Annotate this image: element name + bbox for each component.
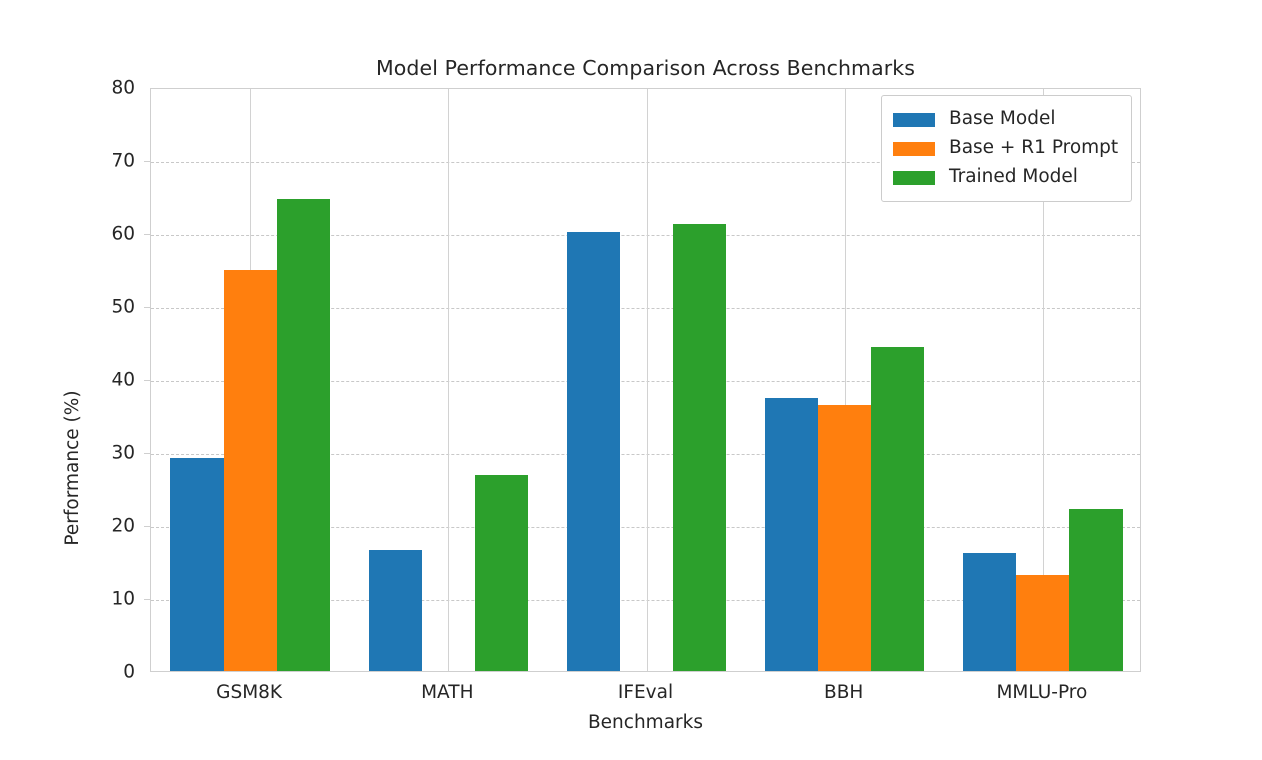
bar	[567, 232, 620, 671]
legend-swatch-icon	[893, 142, 935, 156]
figure-canvas: Model Performance Comparison Across Benc…	[0, 0, 1262, 757]
bar	[224, 270, 277, 671]
gridline-vertical	[647, 89, 648, 671]
legend-label: Base + R1 Prompt	[949, 139, 1118, 158]
legend-swatch-icon	[893, 113, 935, 127]
legend-item[interactable]: Base + R1 Prompt	[893, 134, 1118, 163]
y-tick-label: 60	[55, 224, 135, 245]
y-tick-label: 70	[55, 151, 135, 172]
x-tick-label: GSM8K	[216, 682, 282, 703]
y-tick-label: 0	[55, 662, 135, 683]
x-axis-label: Benchmarks	[150, 712, 1141, 733]
y-tick-label: 20	[55, 516, 135, 537]
legend: Base ModelBase + R1 PromptTrained Model	[881, 95, 1132, 202]
x-tick-label: IFEval	[618, 682, 673, 703]
y-tick-label: 10	[55, 589, 135, 610]
y-tick-label: 50	[55, 297, 135, 318]
legend-item[interactable]: Base Model	[893, 105, 1118, 134]
bar	[475, 475, 528, 671]
legend-swatch-icon	[893, 171, 935, 185]
bar	[1069, 509, 1122, 671]
bar	[963, 553, 1016, 671]
bar	[369, 550, 422, 671]
bar	[170, 458, 223, 671]
y-tick-label: 80	[55, 78, 135, 99]
x-tick-label: MMLU-Pro	[996, 682, 1087, 703]
gridline-vertical	[448, 89, 449, 671]
y-tick-label: 40	[55, 370, 135, 391]
bar	[673, 224, 726, 671]
x-tick-label: MATH	[421, 682, 473, 703]
y-tick-label: 30	[55, 443, 135, 464]
bar	[277, 199, 330, 671]
legend-label: Trained Model	[949, 168, 1078, 187]
bar	[765, 398, 818, 671]
legend-item[interactable]: Trained Model	[893, 163, 1118, 192]
bar	[818, 405, 871, 671]
bar	[1016, 575, 1069, 671]
chart-title: Model Performance Comparison Across Benc…	[150, 56, 1141, 80]
bar	[871, 347, 924, 671]
x-tick-label: BBH	[824, 682, 863, 703]
legend-label: Base Model	[949, 110, 1055, 129]
